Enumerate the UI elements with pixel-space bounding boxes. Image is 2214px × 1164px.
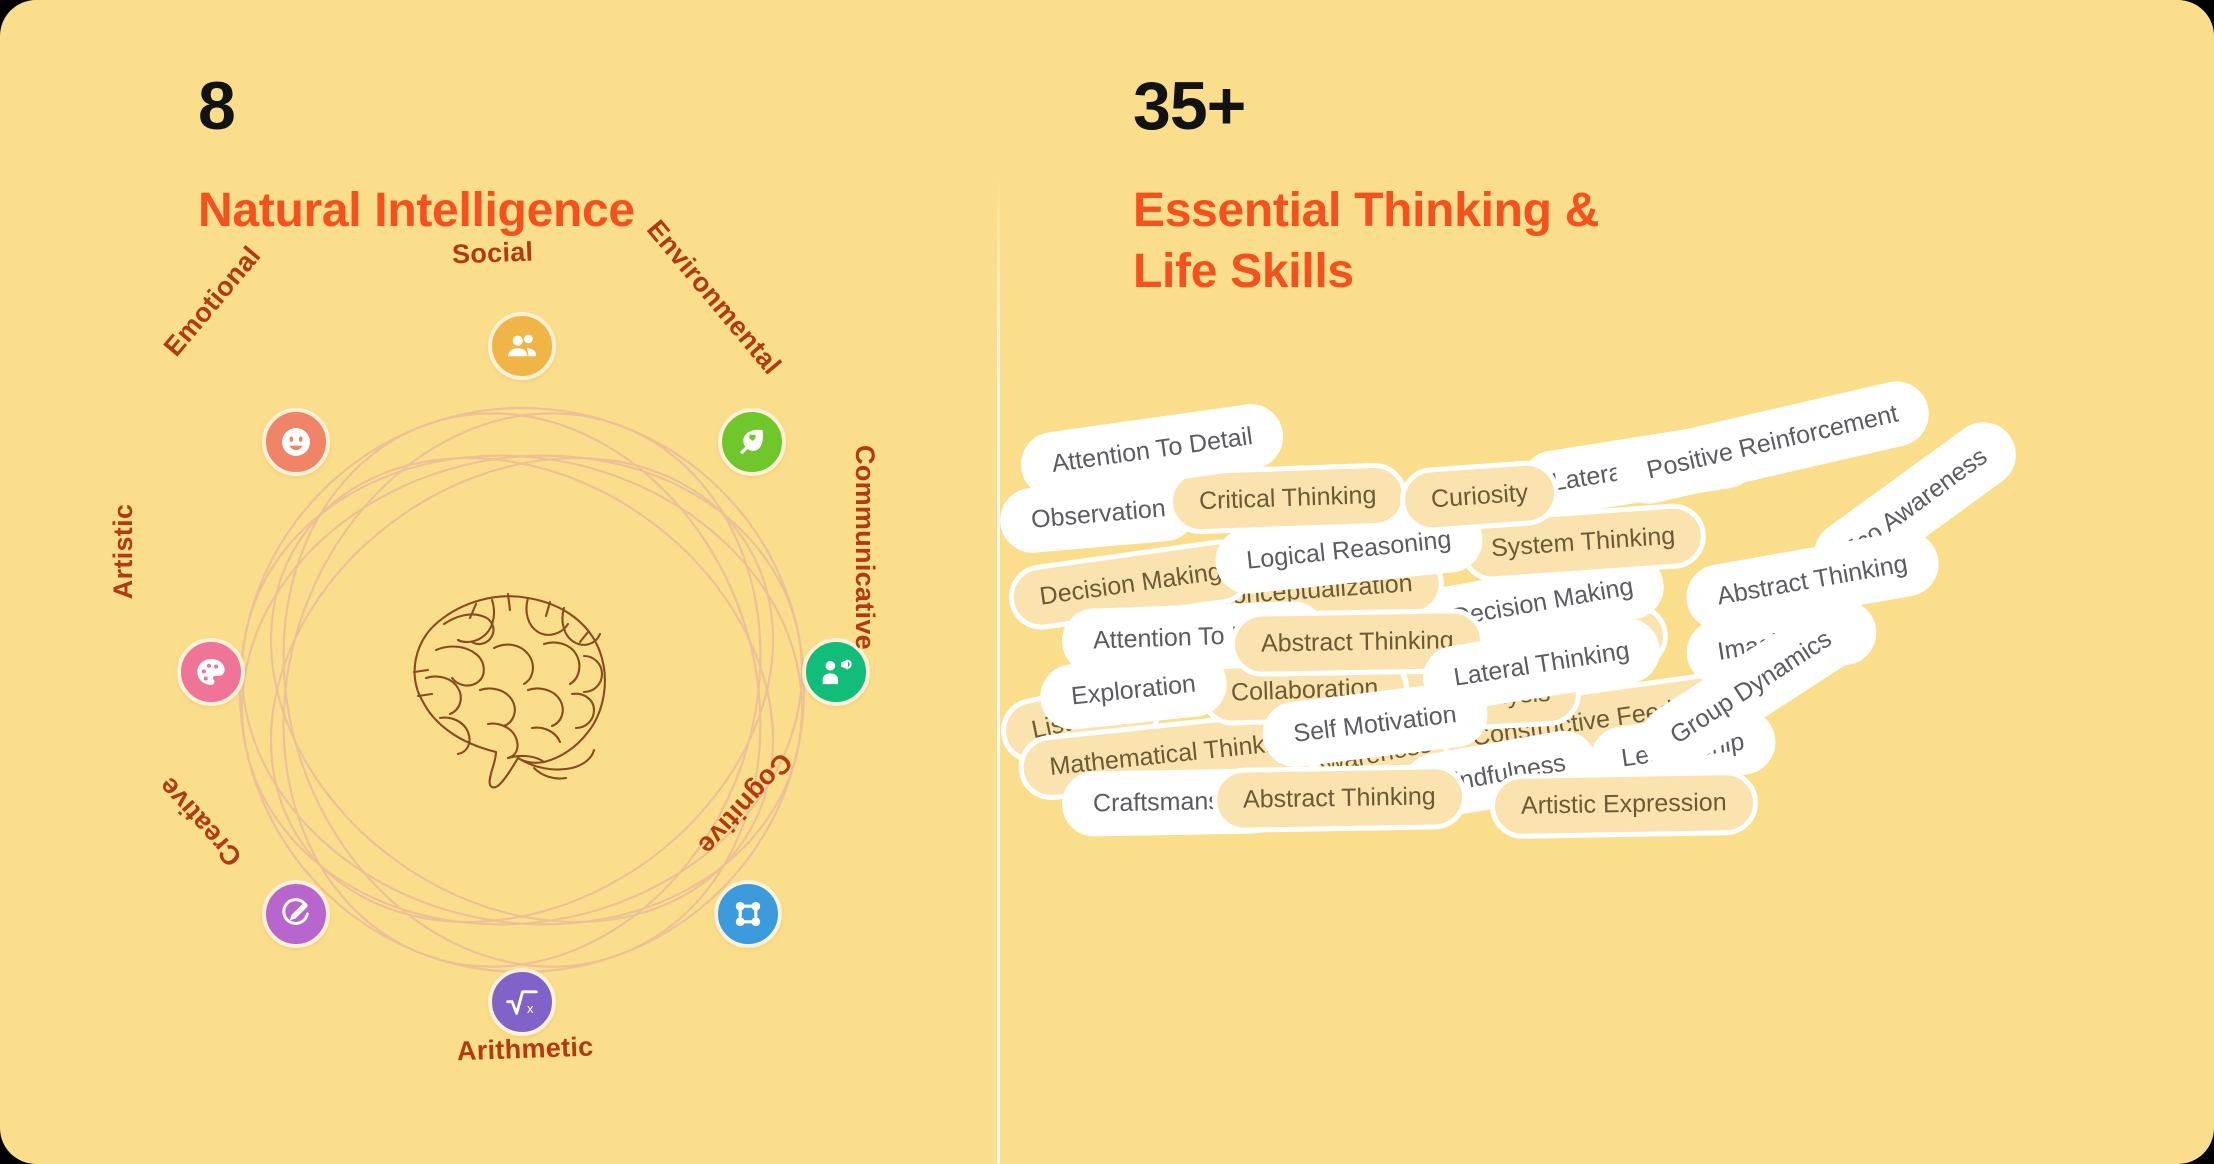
people-icon [505,329,539,363]
skill-tag[interactable]: Abstract Thinking [1211,764,1467,833]
skills-title-line2: Life Skills [1133,241,1853,302]
square-root-icon: x [504,984,540,1020]
skill-tag-cloud: Attention To DetailCritical ThinkingCuri… [1000,410,2214,810]
skill-tag[interactable]: Curiosity [1398,459,1561,535]
pen-circle-icon [279,897,313,931]
person-speaking-icon [819,655,853,689]
leaf-heart-icon [735,425,769,459]
ring-label-artistic: Artistic [108,504,139,599]
skills-count: 35+ [1133,72,1853,140]
natural-intelligence-panel: 8 Natural Intelligence [198,72,635,241]
network-nodes-icon [731,897,765,931]
smiley-icon [278,424,314,460]
ring-label-social: Social [451,237,533,271]
intelligence-node-artistic[interactable] [177,638,245,706]
brain-illustration [384,572,634,802]
intelligence-count: 8 [198,72,635,140]
skills-title: Essential Thinking & Life Skills [1133,180,1853,303]
intelligence-orbit-diagram: x [152,320,892,1060]
palette-icon [194,655,228,689]
intelligence-node-creative[interactable] [262,880,330,948]
intelligence-title: Natural Intelligence [198,180,635,241]
intelligence-node-emotional[interactable] [262,408,330,476]
intelligence-node-social[interactable] [488,312,556,380]
essential-skills-panel: 35+ Essential Thinking & Life Skills [1133,72,1853,303]
info-card: 8 Natural Intelligence [0,0,2214,1164]
ring-label-arithmetic: Arithmetic [456,1032,594,1068]
svg-text:x: x [527,1001,534,1016]
intelligence-node-environmental[interactable] [718,408,786,476]
intelligence-node-arithmetic[interactable]: x [488,968,556,1036]
skills-title-line1: Essential Thinking & [1133,180,1853,241]
ring-label-communicative: Communicative [849,445,880,650]
skill-tag[interactable]: Artistic Expression [1489,770,1758,840]
intelligence-node-cognitive[interactable] [714,880,782,948]
